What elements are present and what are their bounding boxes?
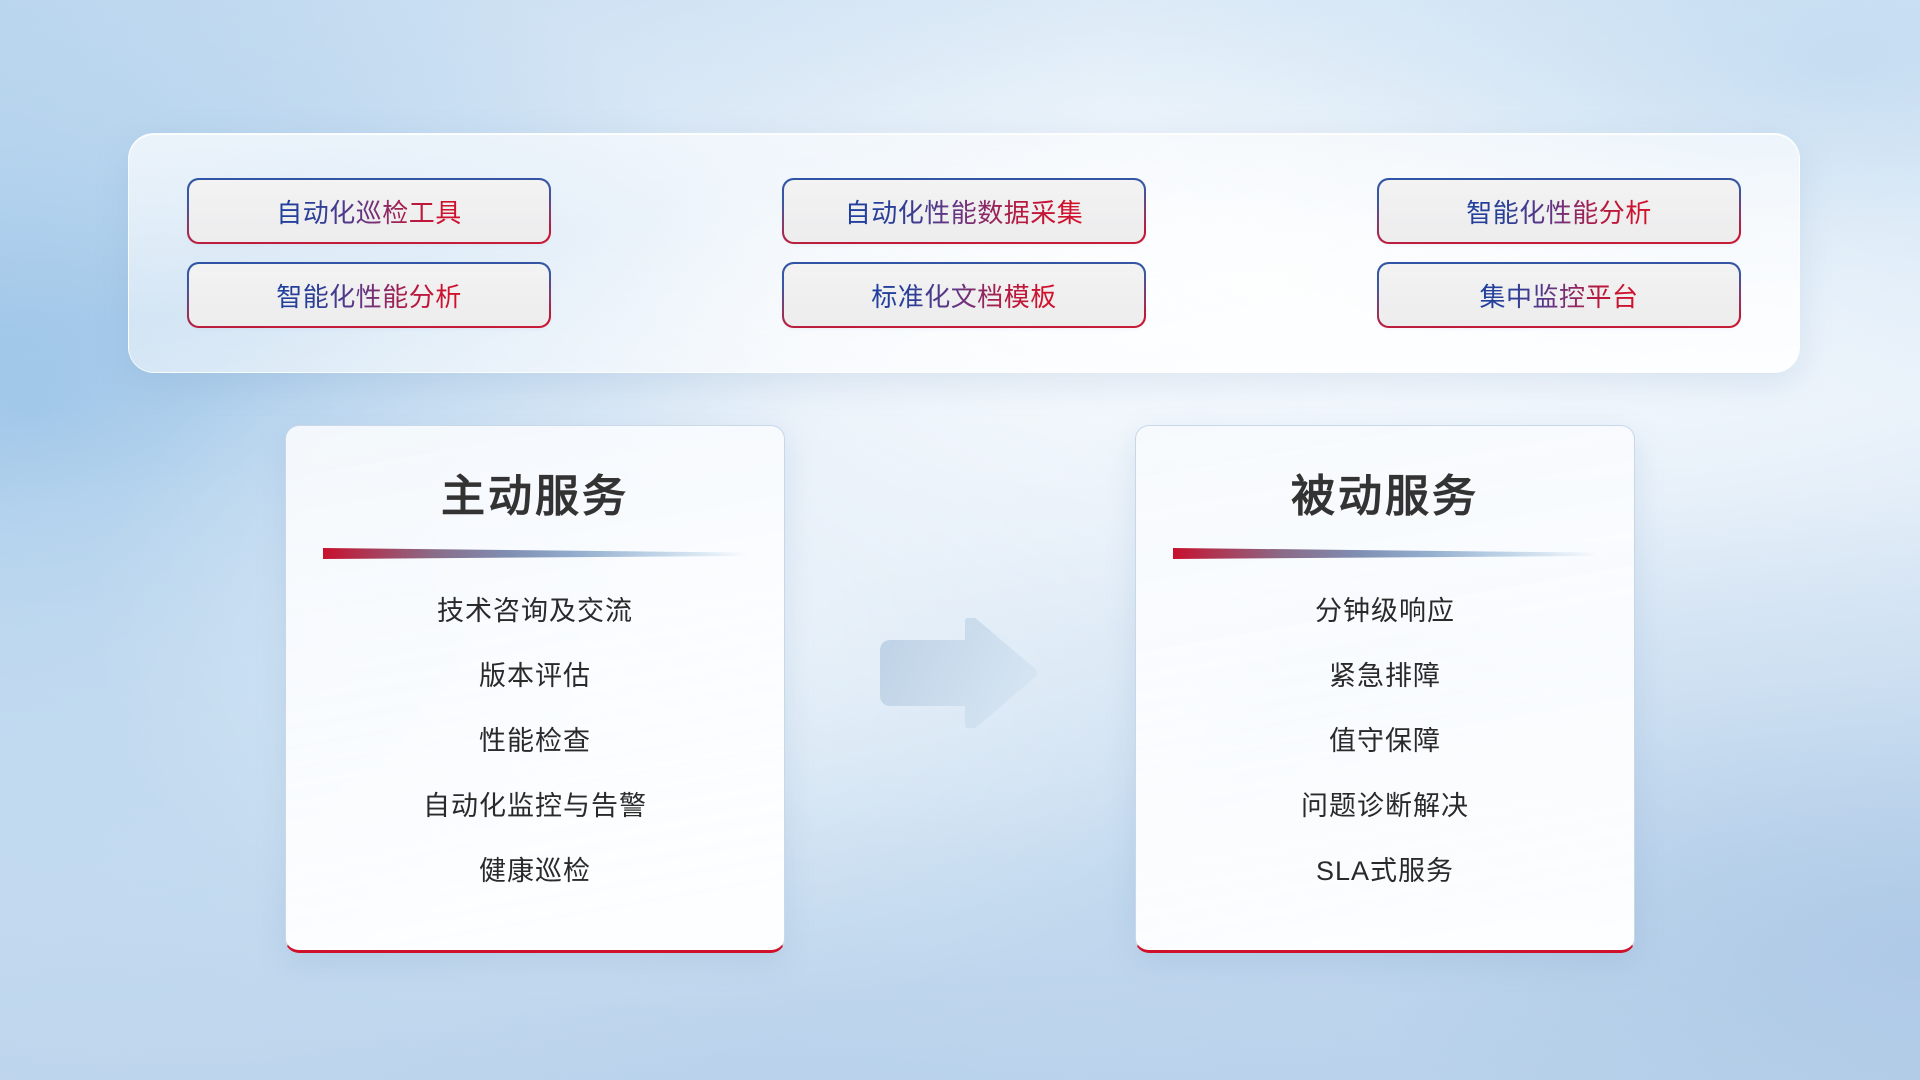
service-card-title: 被动服务 [1291,460,1479,524]
service-list-item: 健康巡检 [479,849,591,888]
capability-chip-intelligent-performance-analysis-2[interactable]: 智能化性能分析 [189,264,549,326]
capability-chip-standardized-document-template[interactable]: 标准化文档模板 [784,264,1144,326]
title-divider-icon [323,548,747,559]
capability-panel: 自动化巡检工具 自动化性能数据采集 智能化性能分析 智能化性能分析 标准化文档模… [128,133,1800,373]
service-list-item: 分钟级响应 [1315,589,1455,628]
service-list-item: 版本评估 [479,654,591,693]
capability-chip-intelligent-performance-analysis[interactable]: 智能化性能分析 [1379,180,1739,242]
service-list-item: 性能检查 [479,719,591,758]
service-card-proactive: 主动服务 技术咨询及交流 版本评估 性能检查 自动化监控与告警 健康巡检 [285,425,785,953]
service-card-reactive: 被动服务 分钟级响应 紧急排障 值守保障 问题诊断解决 SLA式服务 [1135,425,1635,953]
service-list-item: SLA式服务 [1316,849,1454,888]
flow-arrow-right-icon [870,618,1040,728]
service-list-item: 自动化监控与告警 [423,784,647,823]
service-card-title: 主动服务 [441,460,629,524]
capability-chip-label: 自动化巡检工具 [276,193,462,230]
capability-row-2: 智能化性能分析 标准化文档模板 集中监控平台 [189,264,1739,326]
capability-chip-centralized-monitoring-platform[interactable]: 集中监控平台 [1379,264,1739,326]
capability-chip-label: 集中监控平台 [1479,277,1638,314]
service-list-item: 值守保障 [1329,719,1441,758]
service-list-item: 技术咨询及交流 [437,589,633,628]
service-list-item: 问题诊断解决 [1301,784,1469,823]
capability-chip-label: 智能化性能分析 [276,277,462,314]
service-item-list: 分钟级响应 紧急排障 值守保障 问题诊断解决 SLA式服务 [1136,589,1634,888]
capability-chip-automated-inspection-tool[interactable]: 自动化巡检工具 [189,180,549,242]
capability-chip-label: 标准化文档模板 [871,277,1057,314]
capability-chip-label: 自动化性能数据采集 [845,193,1084,230]
capability-chip-label: 智能化性能分析 [1466,193,1652,230]
service-item-list: 技术咨询及交流 版本评估 性能检查 自动化监控与告警 健康巡检 [286,589,784,888]
capability-row-1: 自动化巡检工具 自动化性能数据采集 智能化性能分析 [189,180,1739,242]
capability-chip-automated-performance-data-collection[interactable]: 自动化性能数据采集 [784,180,1144,242]
service-list-item: 紧急排障 [1329,654,1441,693]
title-divider-icon [1173,548,1597,559]
